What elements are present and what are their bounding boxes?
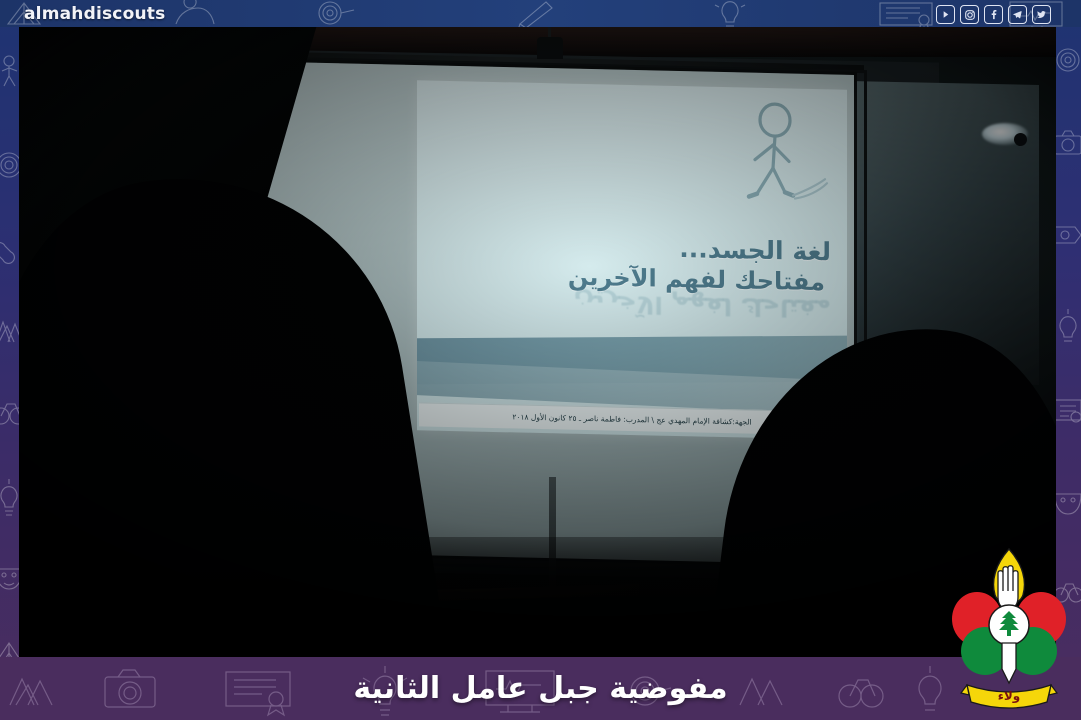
slide-title: لغة الجسد... مفتاحك لفهم الآخرين مفتاحك … [435, 229, 831, 323]
wall-lamp-body [1014, 133, 1027, 146]
poster-frame: لغة الجسد... مفتاحك لفهم الآخرين مفتاحك … [0, 0, 1081, 720]
slide-footer-text: الجهة:كشافة الإمام المهدي عج \ المدرب: ف… [512, 412, 751, 426]
instagram-icon[interactable] [960, 5, 979, 24]
facebook-icon[interactable] [984, 5, 1003, 24]
telegram-icon[interactable] [1008, 5, 1027, 24]
poster-caption: مفوضية جبل عامل الثانية [0, 657, 1081, 720]
event-photo: لغة الجسد... مفتاحك لفهم الآخرين مفتاحك … [19, 27, 1056, 657]
foreground-silhouette-bottom [19, 537, 1056, 657]
screen-rail-knob [537, 37, 563, 59]
brand-handle: almahdiscouts [24, 3, 165, 25]
caption-text: مفوضية جبل عامل الثانية [353, 671, 727, 706]
al-mahdi-scouts-emblem: ولاء [951, 539, 1067, 714]
walking-stick-figure-icon [709, 97, 829, 220]
projected-slide: لغة الجسد... مفتاحك لفهم الآخرين مفتاحك … [417, 80, 847, 439]
social-icon-row[interactable] [936, 5, 1051, 24]
left-band-icon-pattern [0, 0, 19, 720]
youtube-icon[interactable] [936, 5, 955, 24]
emblem-banner-text: ولاء [998, 689, 1021, 704]
left-decor-band [0, 0, 19, 720]
twitter-icon[interactable] [1032, 5, 1051, 24]
